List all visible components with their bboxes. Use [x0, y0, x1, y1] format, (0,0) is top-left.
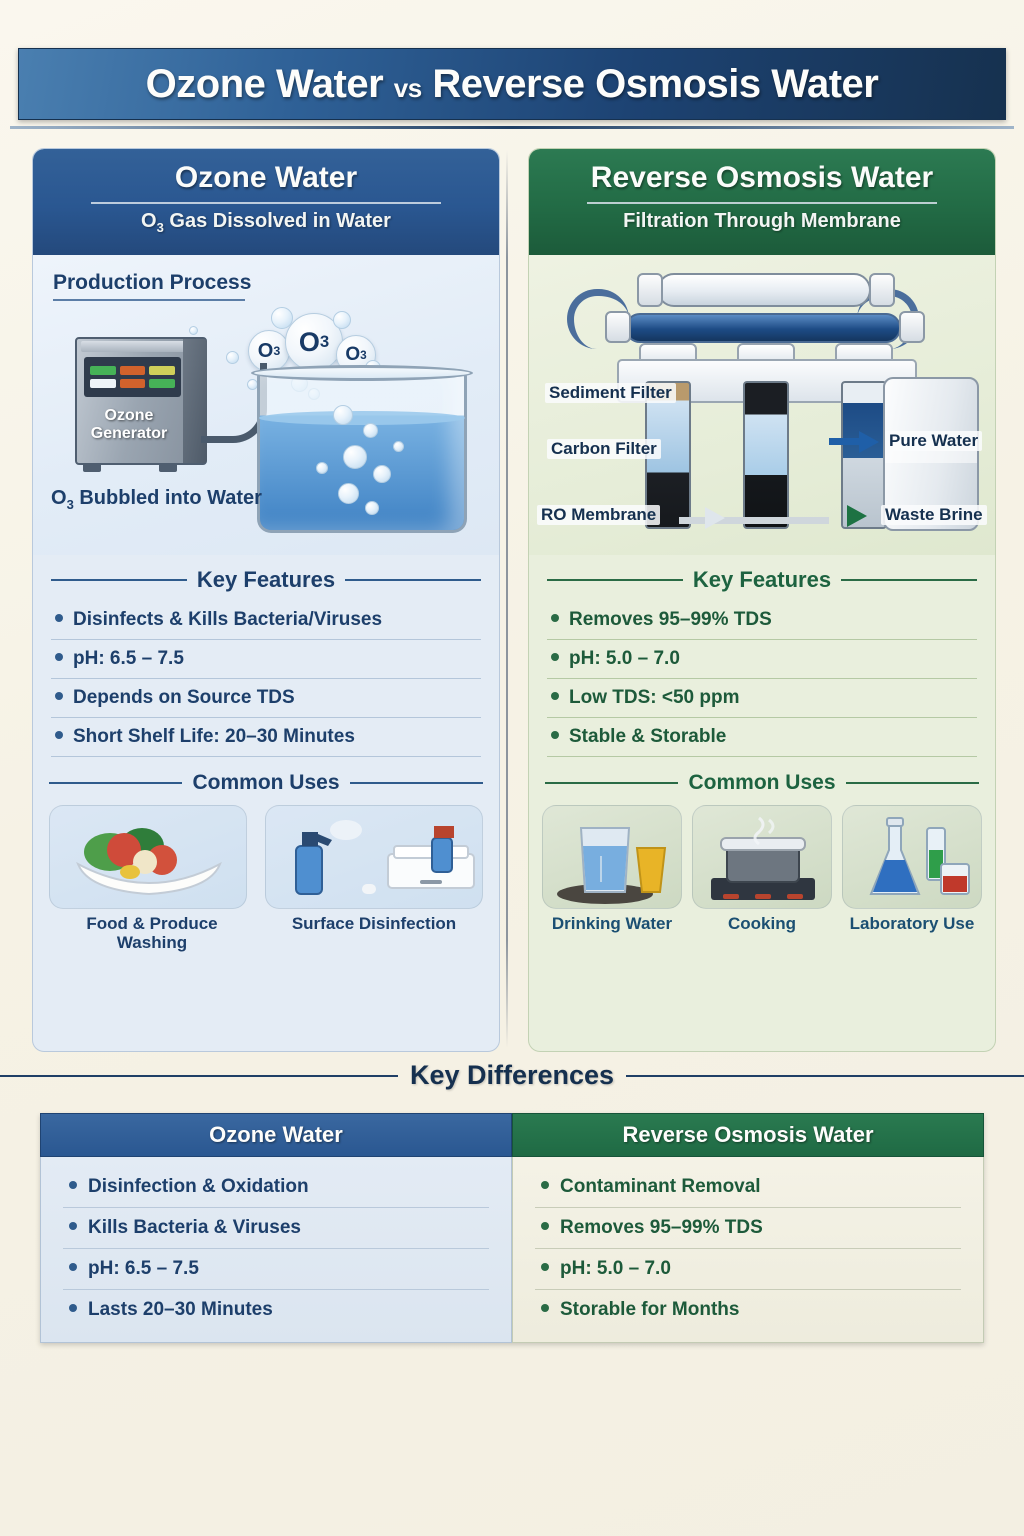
use-item-cooking: Cooking: [692, 805, 832, 934]
use-label: Drinking Water: [542, 915, 682, 934]
page-title-bar: Ozone Water vs Reverse Osmosis Water: [18, 48, 1006, 120]
ozone-differences-list: Disinfection & Oxidation Kills Bacteria …: [63, 1167, 489, 1330]
use-label: Surface Disinfection: [265, 915, 483, 934]
ro-panel-title: Reverse Osmosis Water: [591, 161, 933, 195]
list-item: Low TDS: <50 ppm: [547, 679, 977, 718]
flask-icon: [842, 805, 982, 909]
list-item: Removes 95–99% TDS: [547, 601, 977, 640]
table-header-ro: Reverse Osmosis Water: [512, 1113, 984, 1157]
bullet-icon: [69, 1263, 77, 1271]
water-glass-icon: [542, 805, 682, 909]
panel-divider: [506, 150, 508, 1048]
ro-uses-grid: Drinking Water: [545, 805, 979, 934]
ro-top-cylinder-icon: [657, 273, 871, 307]
ro-common-uses-header: Common Uses: [545, 771, 979, 795]
use-label: Food & Produce Washing: [49, 915, 255, 952]
title-main: Ozone Water: [146, 62, 384, 106]
use-item-drinking-water: Drinking Water: [542, 805, 682, 934]
sediment-filter-label: Sediment Filter: [545, 383, 676, 403]
key-differences-column-ozone: Ozone Water Disinfection & Oxidation Kil…: [40, 1113, 512, 1343]
table-row: Disinfection & Oxidation: [63, 1167, 489, 1208]
bullet-icon: [55, 653, 63, 661]
bullet-icon: [551, 614, 559, 622]
key-differences-table: Ozone Water Disinfection & Oxidation Kil…: [40, 1113, 984, 1343]
ro-common-uses-title: Common Uses: [688, 771, 835, 795]
bullet-icon: [541, 1263, 549, 1271]
bullet-icon: [69, 1304, 77, 1312]
list-item: Stable & Storable: [547, 718, 977, 757]
title-vs: vs: [394, 73, 422, 103]
bubble-icon: [393, 441, 404, 452]
spray-bottle-icon: [265, 805, 483, 909]
ro-key-features: Key Features Removes 95–99% TDS pH: 5.0 …: [529, 555, 995, 761]
bullet-icon: [69, 1222, 77, 1230]
bubble-icon: [363, 423, 378, 438]
bubble-icon: [373, 465, 391, 483]
flow-line: [829, 438, 863, 445]
vegetable-bowl-icon: [49, 805, 247, 909]
flow-arrow-icon: [705, 507, 725, 529]
use-item-food-washing: Food & Produce Washing: [49, 805, 255, 952]
bullet-icon: [69, 1181, 77, 1189]
infographic-page: Ozone Water vs Reverse Osmosis Water Ozo…: [0, 0, 1024, 1536]
ozone-process-caption: O3 Bubbled into Water: [51, 487, 262, 512]
bubble-icon: [338, 483, 359, 504]
pure-water-label: Pure Water: [885, 431, 982, 451]
bullet-icon: [551, 731, 559, 739]
ozone-uses-grid: Food & Produce Washing: [49, 805, 483, 952]
bullet-icon: [551, 653, 559, 661]
list-item: pH: 6.5 – 7.5: [51, 640, 481, 679]
list-item: Disinfects & Kills Bacteria/Viruses: [51, 601, 481, 640]
carbon-filter-cartridge-icon: [743, 381, 789, 529]
ozone-common-uses-title: Common Uses: [192, 771, 339, 795]
ozone-panel-header: Ozone Water O3 Gas Dissolved in Water: [33, 149, 499, 255]
ozone-common-uses-header: Common Uses: [49, 771, 483, 795]
table-row: pH: 5.0 – 7.0: [535, 1249, 961, 1290]
title-tail: Reverse Osmosis Water: [432, 62, 878, 106]
bubble-icon: [333, 405, 353, 425]
cooking-pot-icon: [692, 805, 832, 909]
ozone-key-features-title: Key Features: [197, 567, 335, 593]
ro-system-illustration: Sediment Filter Carbon Filter RO Membran…: [529, 255, 995, 555]
ro-panel-subtitle: Filtration Through Membrane: [623, 210, 901, 233]
ro-panel-header: Reverse Osmosis Water Filtration Through…: [529, 149, 995, 255]
table-row: Kills Bacteria & Viruses: [63, 1208, 489, 1249]
ro-header-rule: [587, 202, 937, 204]
key-differences-header: Key Differences: [0, 1060, 1024, 1091]
production-process-underline: [53, 299, 245, 301]
ro-cap-icon: [899, 311, 925, 343]
ro-cap-icon: [637, 273, 663, 307]
waste-brine-label: Waste Brine: [881, 505, 987, 525]
ro-cap-icon: [869, 273, 895, 307]
bubble-icon: [271, 307, 293, 329]
ozone-header-rule: [91, 202, 441, 204]
list-item: pH: 5.0 – 7.0: [547, 640, 977, 679]
bullet-icon: [541, 1304, 549, 1312]
bullet-icon: [55, 614, 63, 622]
page-title: Ozone Water vs Reverse Osmosis Water: [146, 62, 879, 107]
table-header-ozone: Ozone Water: [40, 1113, 512, 1157]
use-item-laboratory: Laboratory Use: [842, 805, 982, 934]
bullet-icon: [541, 1222, 549, 1230]
use-item-surface-disinfection: Surface Disinfection: [265, 805, 483, 952]
ozone-water-panel: Ozone Water O3 Gas Dissolved in Water Pr…: [32, 148, 500, 1052]
bubble-icon: [343, 445, 367, 469]
ozone-key-features: Key Features Disinfects & Kills Bacteria…: [33, 555, 499, 761]
ro-cap-icon: [605, 311, 631, 343]
bubble-icon: [316, 462, 328, 474]
bullet-icon: [55, 731, 63, 739]
ozone-generator-icon: Ozone Generator: [75, 337, 207, 465]
bubble-icon: [365, 501, 379, 515]
comparison-panels: Ozone Water O3 Gas Dissolved in Water Pr…: [0, 142, 1024, 1054]
ro-common-uses: Common Uses: [529, 761, 995, 946]
production-process-title: Production Process: [53, 271, 251, 295]
use-label: Laboratory Use: [842, 915, 982, 934]
table-row: Contaminant Removal: [535, 1167, 961, 1208]
flow-line: [679, 517, 829, 524]
bubble-icon: [333, 311, 351, 329]
use-label: Cooking: [692, 915, 832, 934]
ro-differences-list: Contaminant Removal Removes 95–99% TDS p…: [535, 1167, 961, 1330]
bullet-icon: [55, 692, 63, 700]
bullet-icon: [541, 1181, 549, 1189]
table-row: pH: 6.5 – 7.5: [63, 1249, 489, 1290]
table-row: Removes 95–99% TDS: [535, 1208, 961, 1249]
key-differences-title: Key Differences: [410, 1060, 614, 1091]
ozone-panel-title: Ozone Water: [175, 161, 357, 195]
table-row: Lasts 20–30 Minutes: [63, 1290, 489, 1330]
reverse-osmosis-panel: Reverse Osmosis Water Filtration Through…: [528, 148, 996, 1052]
beaker-rim-icon: [251, 365, 473, 381]
key-differences-column-ro: Reverse Osmosis Water Contaminant Remova…: [512, 1113, 984, 1343]
title-divider: [10, 126, 1014, 129]
ro-key-features-header: Key Features: [547, 567, 977, 593]
bubble-icon: [189, 326, 198, 335]
list-item: Depends on Source TDS: [51, 679, 481, 718]
ro-blue-cylinder-icon: [625, 313, 901, 343]
ozone-production-illustration: Production Process O3 O3 O3: [33, 255, 499, 555]
carbon-filter-label: Carbon Filter: [547, 439, 661, 459]
generator-label: Ozone Generator: [75, 407, 183, 442]
bullet-icon: [551, 692, 559, 700]
ro-membrane-label: RO Membrane: [537, 505, 660, 525]
waste-brine-arrow-icon: [847, 505, 867, 527]
ozone-panel-subtitle: O3 Gas Dissolved in Water: [141, 210, 391, 235]
ozone-key-features-header: Key Features: [51, 567, 481, 593]
ozone-key-features-list: Disinfects & Kills Bacteria/Viruses pH: …: [51, 601, 481, 757]
generator-control-panel: [84, 357, 181, 397]
ro-key-features-title: Key Features: [693, 567, 831, 593]
list-item: Short Shelf Life: 20–30 Minutes: [51, 718, 481, 757]
ozone-common-uses: Common Uses: [33, 761, 499, 964]
water-surface: [259, 411, 465, 425]
table-row: Storable for Months: [535, 1290, 961, 1330]
ro-key-features-list: Removes 95–99% TDS pH: 5.0 – 7.0 Low TDS…: [547, 601, 977, 757]
